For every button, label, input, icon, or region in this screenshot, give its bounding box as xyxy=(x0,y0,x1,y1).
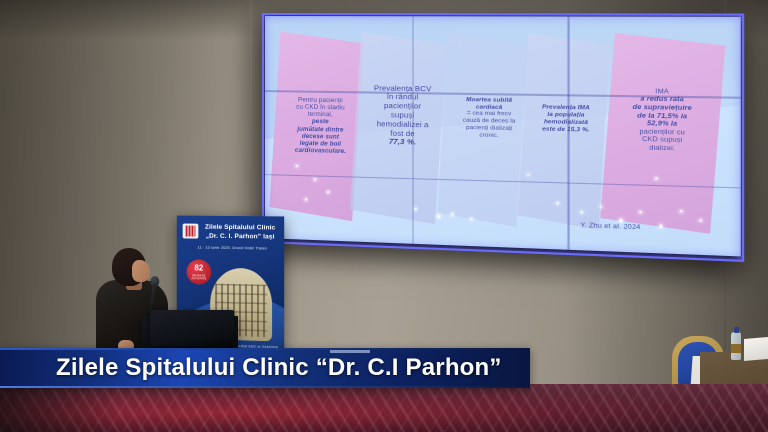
screenshot-root: Pentru paciențiicu CKD în stadiuterminal… xyxy=(0,0,768,432)
video-wall-display[interactable]: Pentru paciențiicu CKD în stadiuterminal… xyxy=(262,13,744,262)
presenter-laptop[interactable] xyxy=(150,310,234,346)
rollup-badge-number: 82 xyxy=(187,259,212,274)
hospital-logo-icon xyxy=(183,224,199,239)
lower-third-title: Zilele Spitalului Clinic “Dr. C.I Parhon… xyxy=(56,354,502,382)
lower-third-banner: Zilele Spitalului Clinic “Dr. C.I Parhon… xyxy=(0,348,530,388)
rollup-anniversary-badge: 82 DE ANI DE ACTIVITATE xyxy=(187,259,212,284)
table-sign-card xyxy=(744,337,768,361)
video-wall-bezel-vertical-2 xyxy=(568,16,570,249)
rollup-subtitle: 11 - 13 iunie 2025, Grand Hotel Traian xyxy=(185,244,281,250)
slide-panel-4-text: Prevalența IMAla populațiahemodializatăe… xyxy=(525,104,608,134)
lower-third-highlight-tick xyxy=(330,350,370,353)
slide-panel-1-text: Pentru paciențiicu CKD în stadiuterminal… xyxy=(279,96,362,156)
presentation-slide: Pentru paciențiicu CKD în stadiuterminal… xyxy=(265,16,741,256)
rollup-title-line-2: „Dr. C. I. Parhon” Iași xyxy=(200,232,280,242)
lower-third-top-edge xyxy=(0,348,530,350)
rollup-badge-label: DE ANI DE ACTIVITATE xyxy=(187,274,212,281)
water-bottle xyxy=(731,332,741,360)
rollup-title: Zilele Spitalului Clinic „Dr. C. I. Parh… xyxy=(200,223,280,242)
slide-panel-3-text: Moartea subităcardiacă= cea mai frecvcau… xyxy=(449,96,530,140)
speaker-face xyxy=(132,260,150,282)
floor-shadow-left xyxy=(0,384,120,432)
video-wall-bezel-vertical-1 xyxy=(412,16,414,244)
